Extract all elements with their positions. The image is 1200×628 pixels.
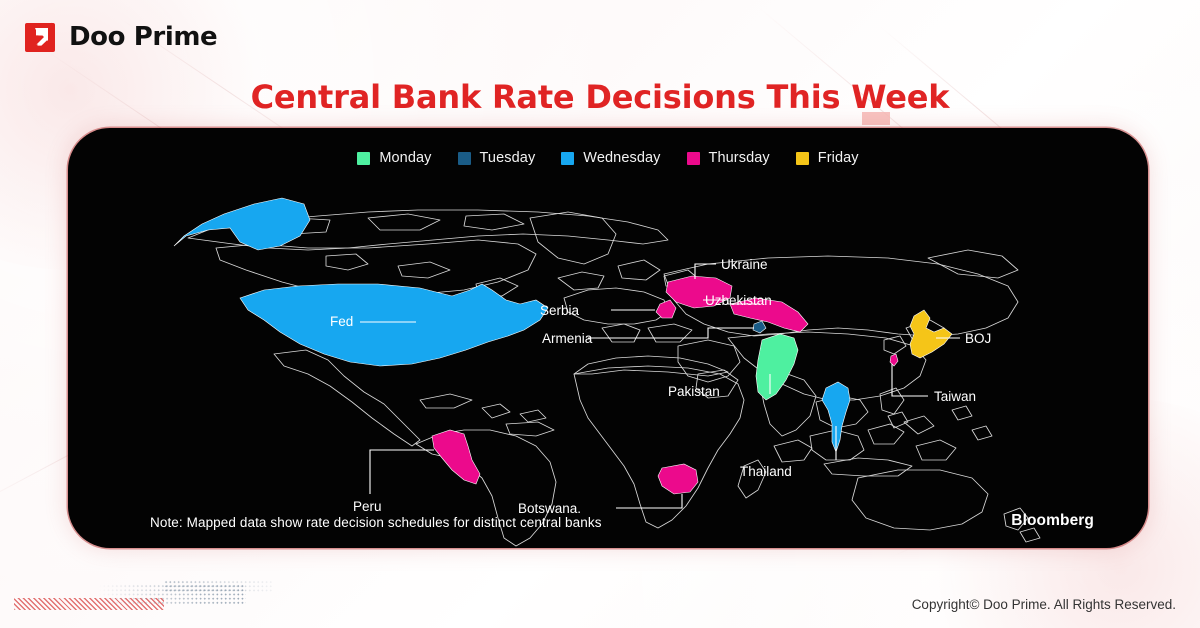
world-map: Fed Ukraine Serbia Uzbekistan Armenia Pa…	[68, 178, 1148, 548]
map-region-botswana[interactable]	[658, 464, 698, 494]
legend-item-friday[interactable]: Friday	[796, 150, 859, 166]
legend-label-monday: Monday	[379, 150, 431, 166]
brand-logo[interactable]: Doo Prime	[24, 20, 217, 54]
legend-swatch-tuesday	[458, 152, 471, 165]
map-source-attribution: Bloomberg	[1011, 512, 1094, 530]
page-title: Central Bank Rate Decisions This Week	[0, 78, 1200, 116]
map-label-peru: Peru	[353, 499, 382, 514]
legend-swatch-monday	[357, 152, 370, 165]
map-region-pakistan[interactable]	[756, 334, 798, 400]
legend-item-monday[interactable]: Monday	[357, 150, 431, 166]
brand-name: Doo Prime	[69, 22, 217, 52]
legend-item-thursday[interactable]: Thursday	[687, 150, 770, 166]
legend-label-wednesday: Wednesday	[583, 150, 660, 166]
map-label-ukraine: Ukraine	[721, 257, 768, 272]
map-region-alaska[interactable]	[174, 198, 310, 250]
map-leader-armenia	[588, 328, 754, 338]
legend-label-friday: Friday	[818, 150, 859, 166]
map-landmasses	[188, 210, 1040, 546]
legend-swatch-wednesday	[561, 152, 574, 165]
map-label-boj: BOJ	[965, 331, 991, 346]
legend: Monday Tuesday Wednesday Thursday Friday	[68, 150, 1148, 166]
map-label-thailand: Thailand	[740, 464, 792, 479]
map-label-botswana: Botswana.	[518, 501, 581, 516]
world-map-svg: Fed Ukraine Serbia Uzbekistan Armenia Pa…	[68, 178, 1148, 548]
map-panel: Monday Tuesday Wednesday Thursday Friday	[68, 128, 1148, 548]
map-leader-botswana	[616, 494, 682, 508]
doo-prime-logo-icon	[24, 20, 58, 54]
map-region-peru[interactable]	[432, 430, 480, 484]
map-label-uzbekistan: Uzbekistan	[705, 293, 772, 308]
legend-label-thursday: Thursday	[709, 150, 770, 166]
decorative-halftone-bars	[14, 598, 164, 610]
map-region-armenia[interactable]	[753, 321, 766, 333]
legend-item-wednesday[interactable]: Wednesday	[561, 150, 660, 166]
map-region-serbia[interactable]	[656, 300, 676, 318]
legend-label-tuesday: Tuesday	[480, 150, 536, 166]
map-leader-peru	[370, 450, 434, 494]
map-label-pakistan: Pakistan	[668, 384, 720, 399]
legend-swatch-friday	[796, 152, 809, 165]
map-region-taiwan[interactable]	[890, 354, 898, 366]
copyright-text: Copyright© Doo Prime. All Rights Reserve…	[912, 597, 1176, 612]
map-highlighted-regions	[174, 198, 952, 494]
map-label-serbia: Serbia	[540, 303, 580, 318]
map-label-taiwan: Taiwan	[934, 389, 976, 404]
legend-item-tuesday[interactable]: Tuesday	[458, 150, 536, 166]
map-note: Note: Mapped data show rate decision sch…	[150, 515, 602, 530]
legend-swatch-thursday	[687, 152, 700, 165]
decorative-dot-bar-2	[164, 580, 274, 592]
map-label-fed: Fed	[330, 314, 353, 329]
map-label-armenia: Armenia	[542, 331, 593, 346]
map-region-japan[interactable]	[910, 310, 952, 358]
